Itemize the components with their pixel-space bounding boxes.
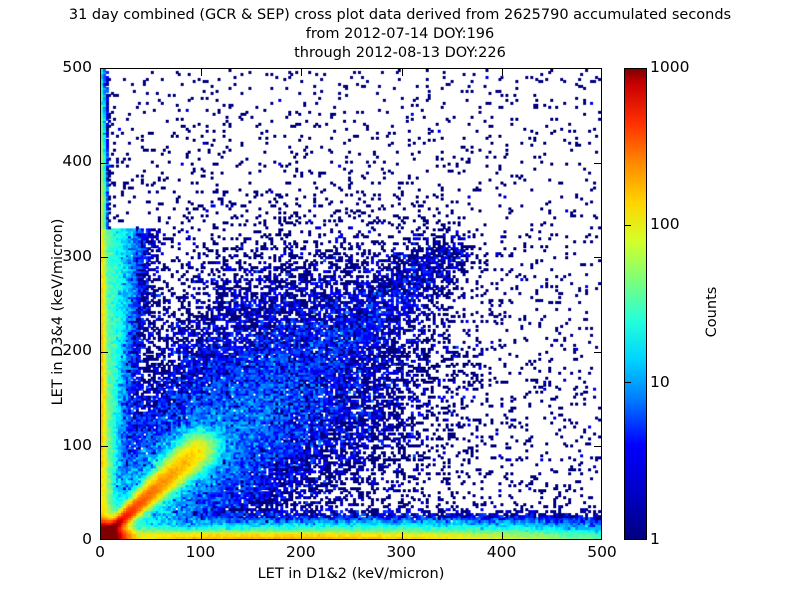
x-axis-tick: [301, 69, 302, 76]
colorbar-tick-label: 10: [650, 375, 670, 391]
y-axis-tick: [594, 352, 601, 353]
colorbar-tick-label: 100: [650, 217, 680, 233]
x-axis-tick-label: 200: [256, 545, 346, 561]
x-axis-title: LET in D1&2 (keV/micron): [100, 566, 602, 582]
y-axis-tick: [594, 68, 601, 69]
y-axis-tick-label: 500: [12, 60, 92, 76]
y-axis-tick: [594, 163, 601, 164]
colorbar-tick-label: 1: [650, 532, 660, 548]
x-axis-tick: [100, 532, 101, 539]
x-axis-tick-label: 400: [457, 545, 547, 561]
y-axis-tick: [101, 257, 108, 258]
figure-canvas: 31 day combined (GCR & SEP) cross plot d…: [0, 0, 800, 600]
colorbar: [624, 68, 647, 540]
x-axis-tick: [301, 532, 302, 539]
x-axis-tick-label: 100: [155, 545, 245, 561]
chart-title: 31 day combined (GCR & SEP) cross plot d…: [0, 6, 800, 63]
y-axis-tick: [101, 446, 108, 447]
title-line-2: from 2012-07-14 DOY:196: [0, 25, 800, 44]
x-axis-tick-label: 0: [55, 545, 145, 561]
x-axis-tick-label: 500: [557, 545, 647, 561]
x-axis-tick: [402, 69, 403, 76]
x-axis-tick-label: 300: [356, 545, 446, 561]
x-axis-tick: [100, 69, 101, 76]
x-axis-tick: [502, 532, 503, 539]
y-axis-tick: [101, 163, 108, 164]
x-axis-tick: [502, 69, 503, 76]
y-axis-tick: [101, 352, 108, 353]
plot-area: [100, 68, 602, 540]
x-axis-tick: [402, 532, 403, 539]
y-axis-tick: [594, 446, 601, 447]
y-axis-tick: [101, 68, 108, 69]
title-line-1: 31 day combined (GCR & SEP) cross plot d…: [0, 6, 800, 25]
x-axis-tick: [201, 532, 202, 539]
x-axis-tick: [201, 69, 202, 76]
y-axis-title: LET in D3&4 (keV/micron): [50, 162, 66, 462]
y-axis-tick: [594, 257, 601, 258]
colorbar-title: Counts: [704, 212, 720, 412]
colorbar-gradient: [625, 69, 646, 539]
colorbar-tick-label: 1000: [650, 60, 689, 76]
heatmap-plot: [101, 69, 601, 539]
colorbar-tick: [624, 382, 631, 383]
colorbar-tick: [624, 225, 631, 226]
